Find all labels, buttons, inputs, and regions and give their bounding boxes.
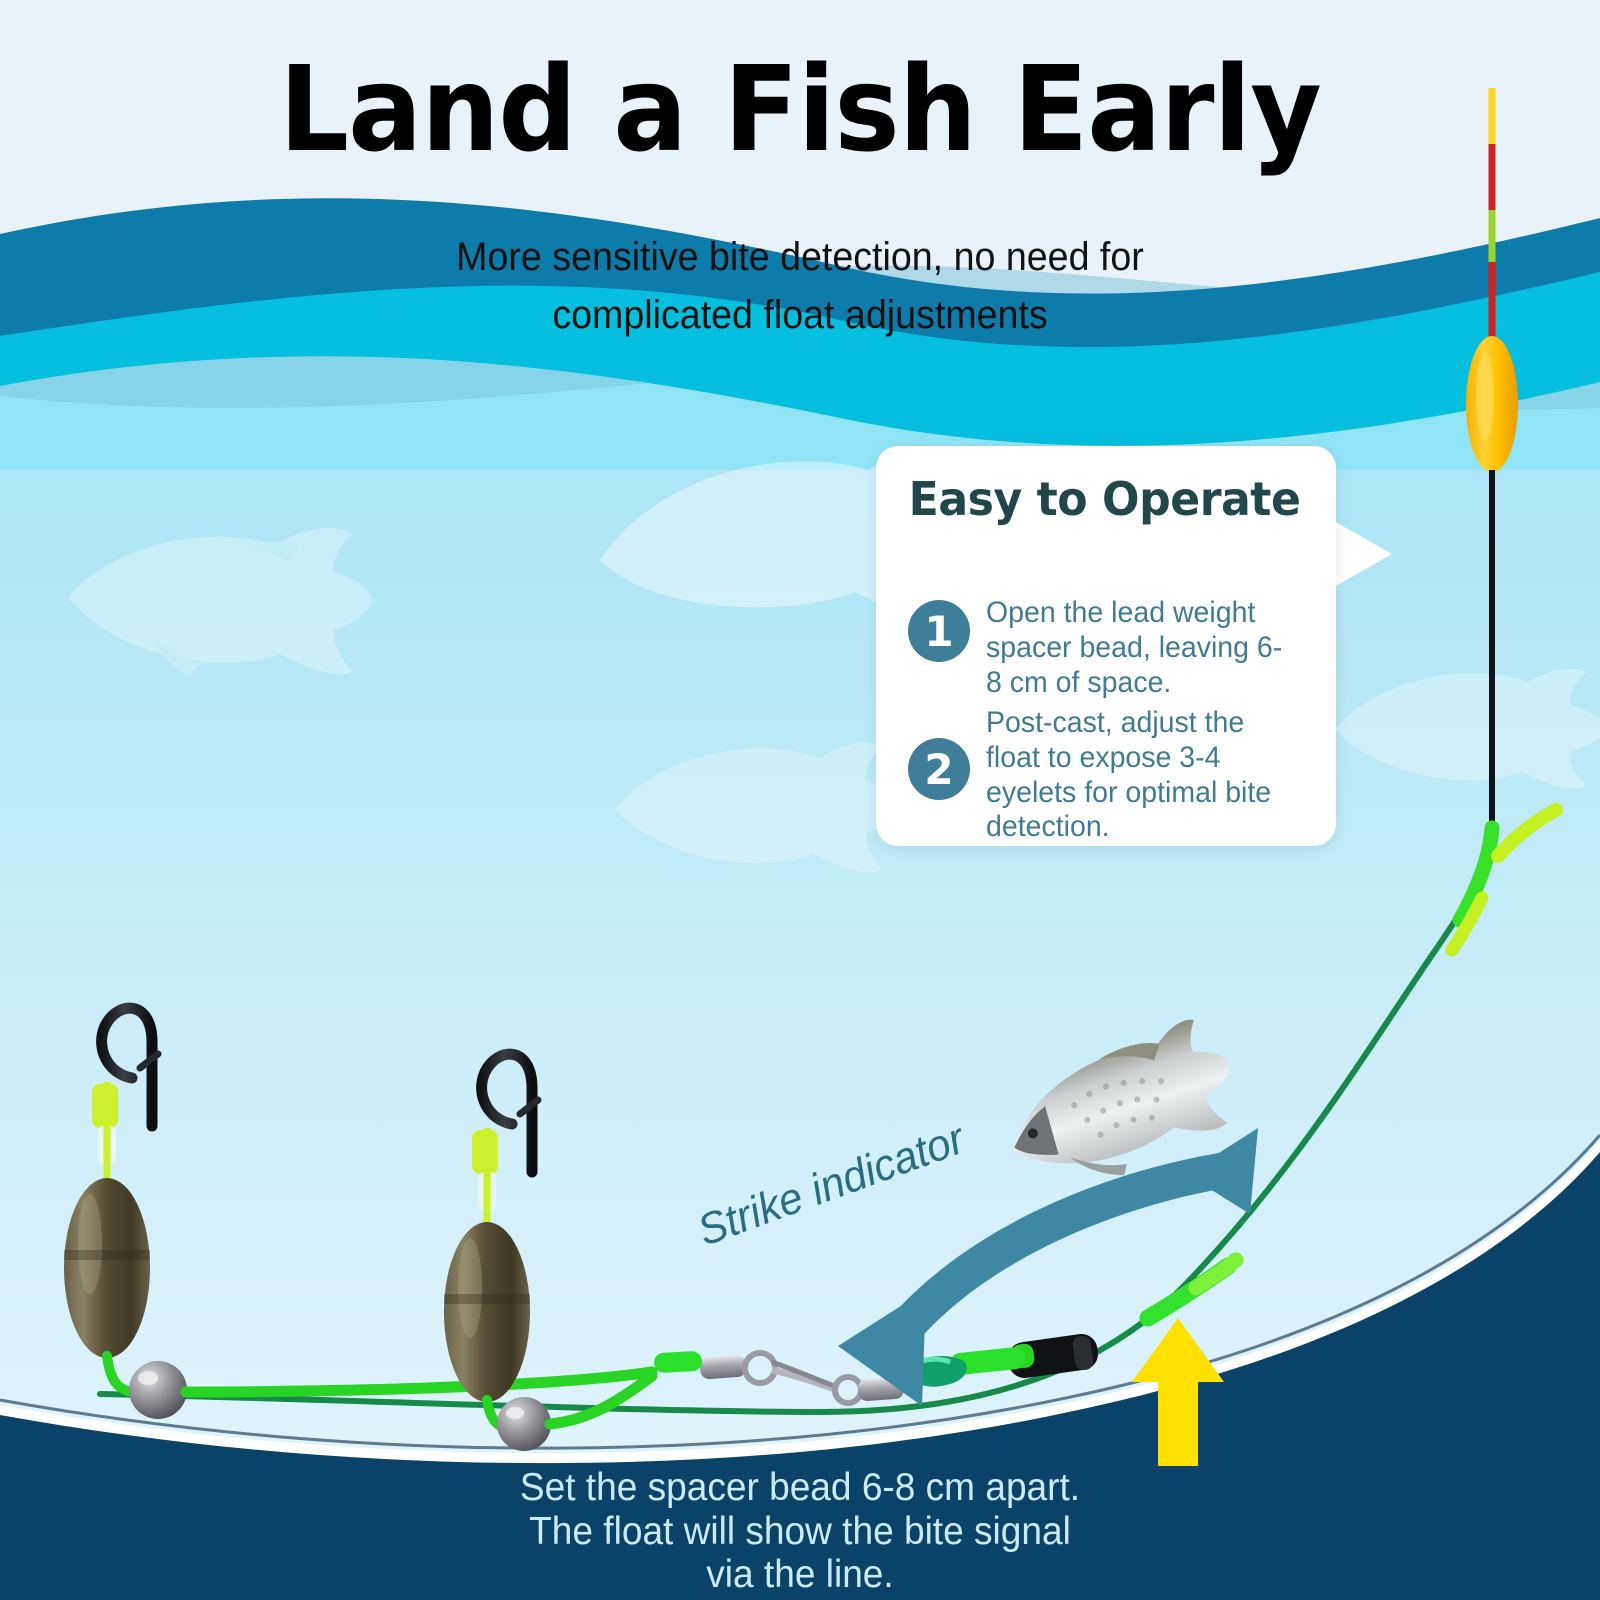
yellow-pointer-arrow-icon	[1132, 1318, 1224, 1466]
hook-rig-1	[64, 1008, 652, 1419]
page-title: Land a Fish Early	[56, 48, 1544, 171]
main-fishing-line	[100, 810, 1556, 1412]
caption-line-2: The float will show the bite signal	[40, 1510, 1560, 1554]
step-item-1: 1 Open the lead weight spacer bead, leav…	[908, 594, 1308, 700]
step-number-badge-1: 1	[908, 600, 970, 662]
step-text-1: Open the lead weight spacer bead, leavin…	[986, 594, 1292, 700]
step-text-2: Post-cast, adjust the float to expose 3-…	[986, 704, 1292, 845]
step-number-badge-2: 2	[908, 738, 970, 800]
bottom-caption: Set the spacer bead 6-8 cm apart. The fl…	[40, 1466, 1560, 1597]
subtitle: More sensitive bite detection, no need f…	[330, 228, 1270, 344]
fishing-float-icon	[1466, 88, 1518, 826]
step-item-2: 2 Post-cast, adjust the float to expose …	[908, 704, 1308, 845]
line-connector-sleeves	[906, 1346, 1027, 1387]
caption-line-1: Set the spacer bead 6-8 cm apart.	[40, 1466, 1560, 1510]
infographic-canvas: Land a Fish Early More sensitive bite de…	[0, 0, 1600, 1600]
caption-line-3: via the line.	[40, 1553, 1560, 1597]
callout-title: Easy to Operate	[876, 446, 1318, 530]
hook-rig-2	[444, 1054, 652, 1451]
subtitle-line-2: complicated float adjustments	[330, 286, 1270, 344]
easy-to-operate-card: Easy to Operate 1 Open the lead weight s…	[876, 446, 1336, 846]
callout-pointer	[1332, 520, 1392, 588]
subtitle-line-1: More sensitive bite detection, no need f…	[330, 228, 1270, 286]
